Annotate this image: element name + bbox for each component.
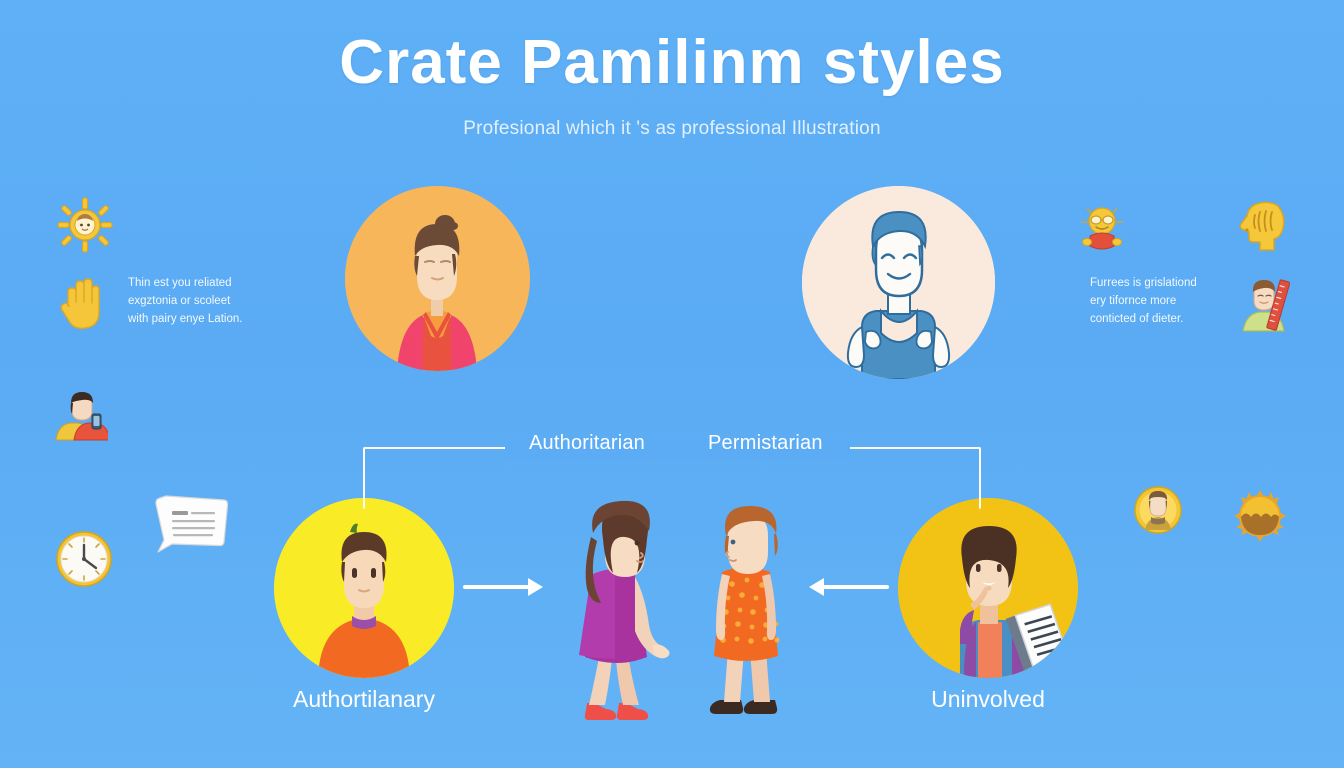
figure-girl-purple [553,497,673,725]
page-subtitle: Profesional which it 's as professional … [0,118,1344,140]
avatar-top-right [802,186,995,379]
avatar-bottom-right [898,498,1078,678]
sunburst-icon [1234,490,1286,542]
caption-uninvolved: Uninvolved [898,686,1078,713]
caption-authortilanary: Authortilanary [274,686,454,713]
speech-bubble-icon [152,492,230,554]
avatar-top-left [345,186,530,371]
emoji-glasses-icon [1078,200,1126,252]
note-text-left: Thin est you reliated exgztonia or scole… [128,275,278,328]
clock-icon [55,530,113,588]
page-title: Crate Pamilinm styles [0,30,1344,95]
arrow-left-icon [823,585,889,589]
infographic-canvas: Crate Pamilinm styles Profesional which … [0,0,1344,768]
figure-child-orange [692,500,798,722]
arrow-right-icon [463,585,529,589]
person-ruler-icon [1238,278,1290,332]
hand-icon [50,272,112,334]
avatar-badge-icon [1134,486,1182,534]
node-label-permistarian: Permistarian [708,432,823,455]
node-label-authoritarian: Authoritarian [529,432,645,455]
head-brain-icon [1238,200,1286,252]
note-text-right: Furrees is grislationd ery tifornce more… [1090,275,1240,328]
person-phone-icon [52,390,108,442]
sun-face-icon [57,197,113,253]
avatar-bottom-left [274,498,454,678]
